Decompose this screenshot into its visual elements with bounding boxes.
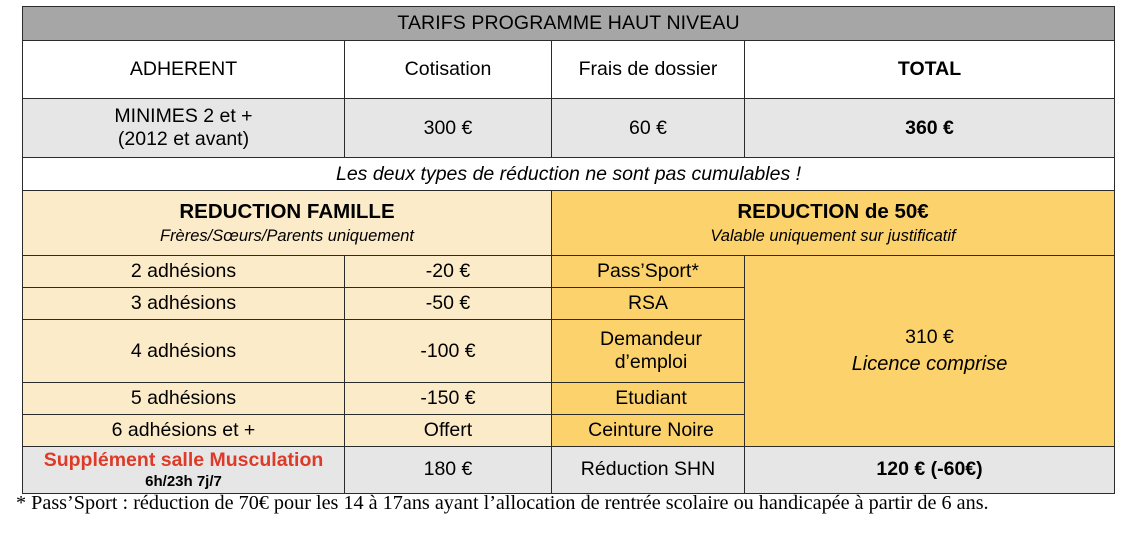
supplement-label-line2: 6h/23h 7j/7 — [27, 473, 340, 491]
famille-label-5: 6 adhésions et + — [23, 415, 345, 447]
criterion-3: Demandeur d’emploi — [552, 320, 745, 383]
footnote-text: * Pass’Sport : réduction de 70€ pour les… — [16, 492, 1128, 515]
table-row-reduction-1: 2 adhésions -20 € Pass’Sport* 310 € Lice… — [23, 256, 1115, 288]
famille-value-5: Offert — [345, 415, 552, 447]
table-row-minimes: MINIMES 2 et + (2012 et avant) 300 € 60 … — [23, 99, 1115, 158]
supplement-label-cell: Supplément salle Musculation 6h/23h 7j/7 — [23, 447, 345, 494]
table-row-supplement: Supplément salle Musculation 6h/23h 7j/7… — [23, 447, 1115, 494]
reductions-table: REDUCTION FAMILLE Frères/Sœurs/Parents u… — [22, 190, 1115, 494]
cell-total-value: 360 € — [745, 99, 1115, 158]
famille-label-3: 4 adhésions — [23, 320, 345, 383]
cell-adherent-category: MINIMES 2 et + (2012 et avant) — [23, 99, 345, 158]
reduction-50-subtitle: Valable uniquement sur justificatif — [558, 227, 1108, 246]
reduction-famille-title: REDUCTION FAMILLE — [29, 200, 545, 224]
famille-value-3: -100 € — [345, 320, 552, 383]
criterion-4: Etudiant — [552, 383, 745, 415]
column-header-adherent: ADHERENT — [23, 41, 345, 99]
reduction-50-amount-cell: 310 € Licence comprise — [745, 256, 1115, 447]
famille-label-2: 3 adhésions — [23, 288, 345, 320]
famille-value-2: -50 € — [345, 288, 552, 320]
adherent-category-line2: (2012 et avant) — [118, 128, 249, 150]
column-header-cotisation: Cotisation — [345, 41, 552, 99]
cell-frais-value: 60 € — [552, 99, 745, 158]
reduction-50-amount: 310 € — [905, 326, 954, 348]
criterion-5: Ceinture Noire — [552, 415, 745, 447]
reduction-famille-subtitle: Frères/Sœurs/Parents uniquement — [29, 227, 545, 246]
famille-value-4: -150 € — [345, 383, 552, 415]
column-header-total: TOTAL — [745, 41, 1115, 99]
shn-label: Réduction SHN — [552, 447, 745, 494]
supplement-price: 180 € — [345, 447, 552, 494]
famille-label-1: 2 adhésions — [23, 256, 345, 288]
table-row-title: TARIFS PROGRAMME HAUT NIVEAU — [23, 7, 1115, 41]
reduction-50-header: REDUCTION de 50€ Valable uniquement sur … — [552, 191, 1115, 256]
supplement-label-line1: Supplément salle Musculation — [27, 449, 340, 472]
cumul-note: Les deux types de réduction ne sont pas … — [23, 158, 1115, 191]
page-title: TARIFS PROGRAMME HAUT NIVEAU — [23, 7, 1115, 41]
shn-value: 120 € (-60€) — [745, 447, 1115, 494]
tariff-sheet: TARIFS PROGRAMME HAUT NIVEAU ADHERENT Co… — [0, 0, 1138, 552]
reduction-50-amount-note: Licence comprise — [749, 353, 1110, 377]
reduction-50-title: REDUCTION de 50€ — [558, 200, 1108, 224]
criterion-1: Pass’Sport* — [552, 256, 745, 288]
column-header-frais-de-dossier: Frais de dossier — [552, 41, 745, 99]
cell-cotisation-value: 300 € — [345, 99, 552, 158]
criterion-2: RSA — [552, 288, 745, 320]
table-row-headers: ADHERENT Cotisation Frais de dossier TOT… — [23, 41, 1115, 99]
famille-value-1: -20 € — [345, 256, 552, 288]
reduction-famille-header: REDUCTION FAMILLE Frères/Sœurs/Parents u… — [23, 191, 552, 256]
adherent-category-line1: MINIMES 2 et + — [114, 105, 252, 127]
fees-table: TARIFS PROGRAMME HAUT NIVEAU ADHERENT Co… — [22, 6, 1115, 191]
table-row-note: Les deux types de réduction ne sont pas … — [23, 158, 1115, 191]
famille-label-4: 5 adhésions — [23, 383, 345, 415]
table-row-reduction-headers: REDUCTION FAMILLE Frères/Sœurs/Parents u… — [23, 191, 1115, 256]
